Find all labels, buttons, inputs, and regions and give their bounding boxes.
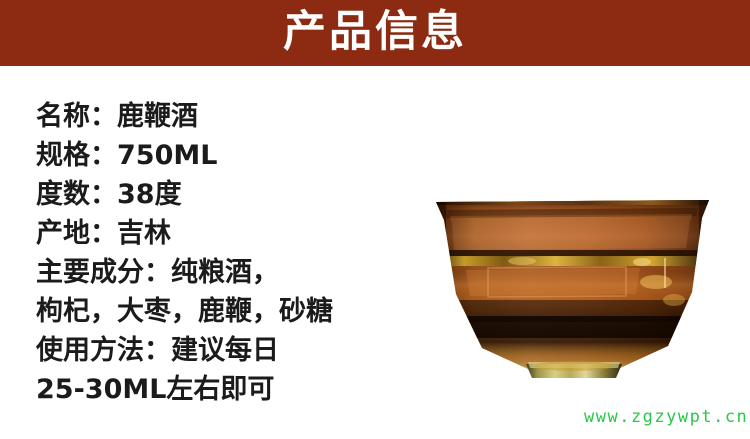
info-line-ingredients-2: 枸杞，大枣，鹿鞭，砂糖 xyxy=(36,292,436,331)
info-line-name: 名称：鹿鞭酒 xyxy=(36,97,436,136)
page-title: 产品信息 xyxy=(0,0,750,66)
liquor-glass-photo xyxy=(430,196,715,378)
info-line-alcohol-degree: 度数：38度 xyxy=(36,175,436,214)
info-line-usage-2: 25-30ML左右即可 xyxy=(36,370,436,409)
info-line-spec: 规格：750ML xyxy=(36,136,436,175)
glass-body xyxy=(430,196,715,378)
product-info-page: 产品信息 名称：鹿鞭酒 规格：750ML 度数：38度 产地：吉林 主要成分：纯… xyxy=(0,0,750,439)
info-line-ingredients-1: 主要成分：纯粮酒， xyxy=(36,253,436,292)
product-info-list: 名称：鹿鞭酒 规格：750ML 度数：38度 产地：吉林 主要成分：纯粮酒， 枸… xyxy=(36,97,436,409)
info-line-origin: 产地：吉林 xyxy=(36,214,436,253)
info-line-usage-1: 使用方法：建议每日 xyxy=(36,331,436,370)
site-watermark: www.zgzywpt.cn xyxy=(584,407,748,427)
glass-base xyxy=(526,361,622,378)
